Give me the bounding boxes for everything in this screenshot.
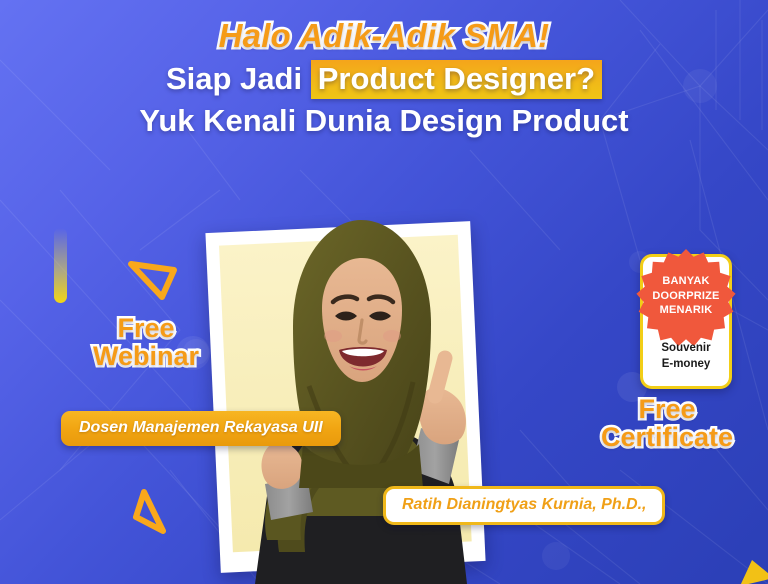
headline-kicker: Halo Adik-Adik SMA! bbox=[0, 18, 768, 54]
headline-line-2: Siap Jadi Product Designer? bbox=[0, 60, 768, 97]
triangle-outline-icon bbox=[128, 256, 178, 300]
triangle-corner-icon bbox=[736, 556, 768, 584]
pill-affiliation: Dosen Manajemen Rekayasa UII bbox=[61, 411, 341, 446]
doorprize-line2: DOORPRIZE bbox=[643, 289, 729, 304]
triangle-outline-icon bbox=[127, 487, 171, 539]
headline-highlight-product-designer: Product Designer? bbox=[311, 60, 602, 99]
badge-free-certificate-line2: Certificate bbox=[601, 422, 733, 452]
pill-speaker-name: Ratih Dianingtyas Kurnia, Ph.D., bbox=[383, 486, 665, 525]
doorprize-card: BANYAK DOORPRIZE MENARIK Souvenir E-mone… bbox=[640, 254, 732, 389]
promotional-poster: Halo Adik-Adik SMA! Siap Jadi Product De… bbox=[0, 0, 768, 584]
badge-free-certificate-line1: Free bbox=[638, 394, 695, 424]
doorprize-line1: BANYAK bbox=[643, 274, 729, 289]
doorprize-line3: MENARIK bbox=[643, 303, 729, 318]
headline-line-2-prefix: Siap Jadi bbox=[166, 61, 311, 96]
doorprize-subtext: Souvenir E-money bbox=[643, 341, 729, 372]
headline-block: Halo Adik-Adik SMA! Siap Jadi Product De… bbox=[0, 18, 768, 139]
headline-line-3: Yuk Kenali Dunia Design Product bbox=[0, 102, 768, 139]
doorprize-sub-line2: E-money bbox=[643, 357, 729, 372]
badge-free-certificate: Free Certificate bbox=[601, 396, 733, 451]
badge-free-webinar: Free Webinar bbox=[93, 315, 199, 370]
badge-free-webinar-line2: Webinar bbox=[93, 341, 199, 371]
doorprize-burst-text: BANYAK DOORPRIZE MENARIK bbox=[643, 274, 729, 318]
doorprize-sub-line1: Souvenir bbox=[643, 341, 729, 356]
badge-free-webinar-line1: Free bbox=[117, 313, 174, 343]
gradient-bar-decor bbox=[54, 228, 67, 303]
